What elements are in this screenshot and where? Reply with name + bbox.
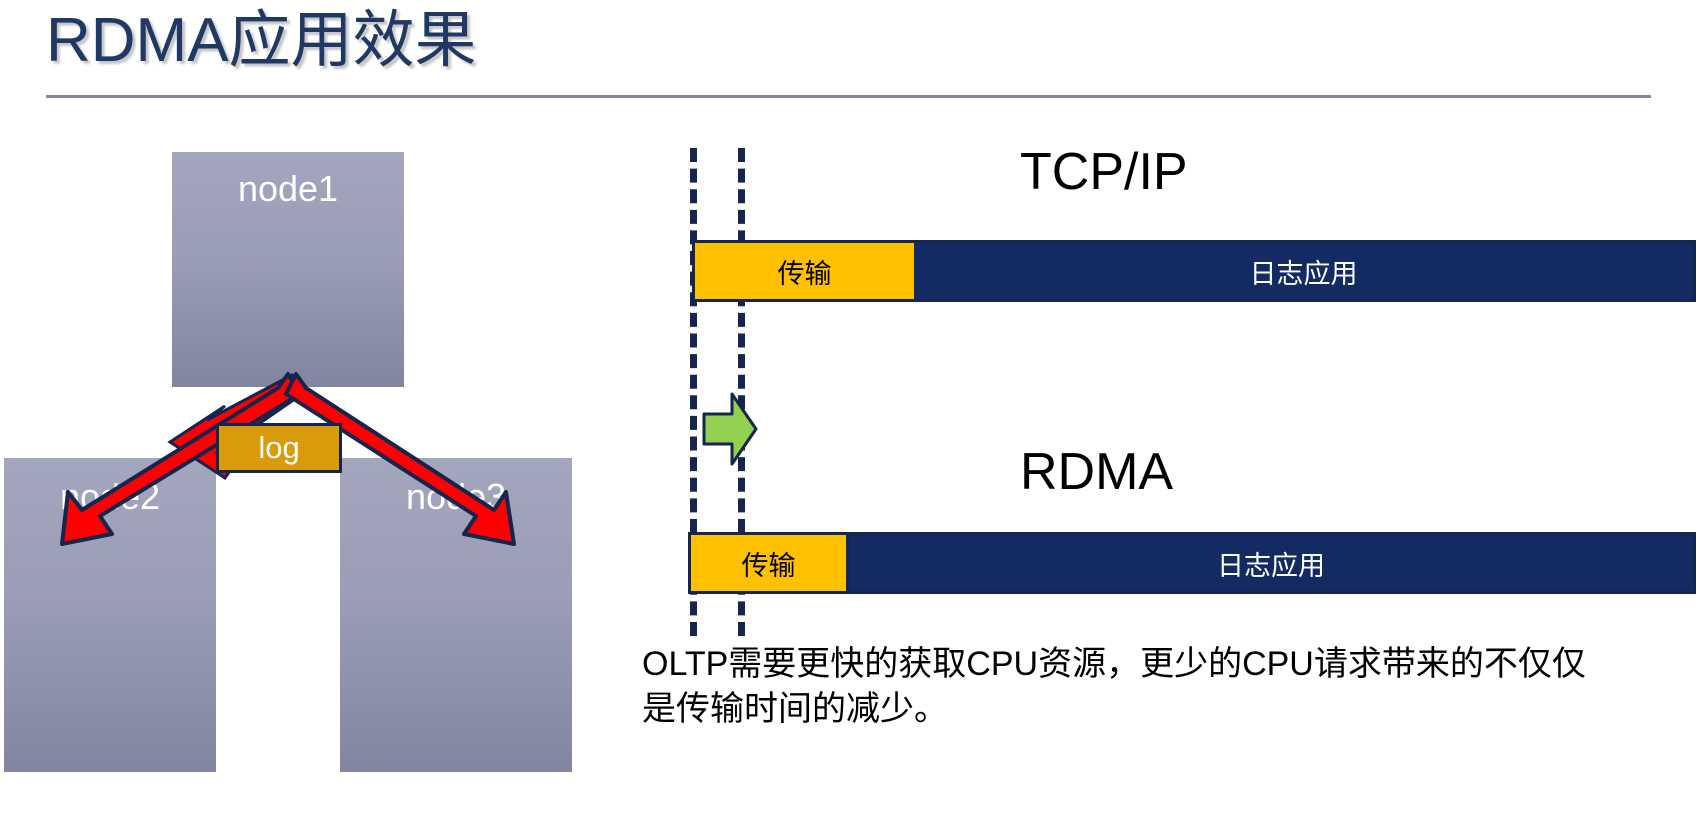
replication-arrows (0, 130, 620, 660)
timeline-bar-rdma[interactable]: 传输 日志应用 (688, 532, 1696, 594)
title-divider (46, 95, 1651, 98)
cluster-diagram: node1 node2 node3 log (0, 130, 620, 660)
segment-transmit-tcpip: 传输 (695, 243, 914, 299)
segment-apply-rdma: 日志应用 (849, 535, 1693, 591)
timeline-comparison: TCP/IP 传输 日志应用 RDMA 传输 日志应用 OLTP需要更快的获取C… (620, 130, 1696, 750)
page-title: RDMA应用效果 (46, 2, 477, 80)
improvement-arrow-icon (698, 388, 760, 470)
segment-transmit-rdma: 传输 (691, 535, 849, 591)
protocol-label-tcpip: TCP/IP (1020, 142, 1188, 202)
segment-apply-tcpip: 日志应用 (914, 243, 1693, 299)
caption-text: OLTP需要更快的获取CPU资源，更少的CPU请求带来的不仅仅是传输时间的减少。 (642, 642, 1602, 732)
timeline-bar-tcpip[interactable]: 传输 日志应用 (692, 240, 1696, 302)
log-box[interactable]: log (216, 423, 342, 473)
log-label: log (258, 430, 299, 465)
protocol-label-rdma: RDMA (1020, 442, 1173, 502)
